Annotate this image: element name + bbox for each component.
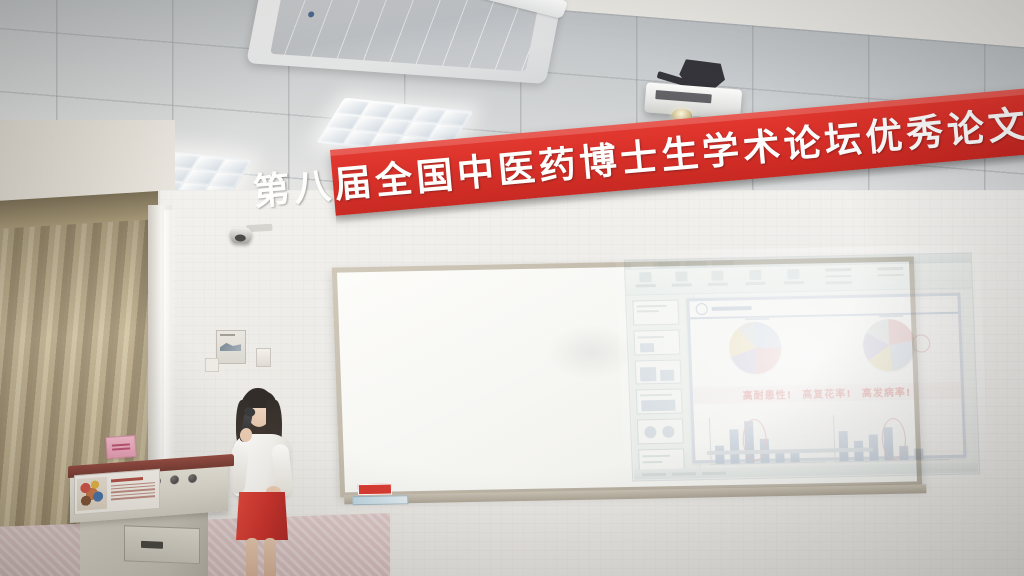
ribbon-tab[interactable]: [712, 260, 734, 266]
presentation-app-window: 高耐患性! 高复花率! 高发病率!: [624, 252, 980, 481]
lectern-drawer[interactable]: [124, 525, 200, 564]
presenter-skirt: [236, 492, 288, 540]
status-text: [672, 472, 696, 476]
red-callout-3: 高发病率!: [862, 384, 912, 400]
pie-chart-right: [862, 319, 922, 378]
slide-thumbnail[interactable]: [632, 300, 679, 326]
ribbon-tab[interactable]: [631, 262, 653, 268]
slide-title-text: [712, 306, 752, 311]
slide-thumbnail[interactable]: [636, 389, 683, 415]
pie-annotation-ellipse: [912, 334, 931, 352]
presenter-left-leg: [246, 538, 258, 576]
presenter-right-leg: [264, 538, 276, 576]
wall-small-tag: [205, 358, 219, 372]
lectern-knob[interactable]: [188, 474, 197, 484]
slide-bullet-icon: [695, 303, 707, 315]
pie-chart-left: [728, 321, 788, 380]
slide-thumbnail[interactable]: [633, 329, 680, 355]
pie-chart-right-graphic: [862, 319, 916, 372]
lectern-knob[interactable]: [170, 475, 179, 485]
red-callout-2: 高复花率!: [802, 385, 852, 401]
red-callout-1: 高耐患性!: [742, 386, 792, 402]
whiteboard-blue-label: [352, 495, 408, 505]
slide-red-callouts: 高耐患性! 高复花率! 高发病率!: [693, 382, 962, 405]
lectern: [66, 456, 236, 576]
bar-chart-left: [708, 416, 825, 465]
slide-thumbnail[interactable]: [637, 419, 684, 445]
lectern-poster: [74, 469, 160, 515]
status-text: [642, 472, 666, 476]
active-slide-canvas[interactable]: 高耐患性! 高复花率! 高发病率!: [686, 293, 966, 464]
slide-thumbnail[interactable]: [635, 359, 682, 385]
lectern-slot: [141, 541, 163, 549]
poster-text-lines: [111, 476, 155, 502]
ribbon-tab[interactable]: [658, 261, 680, 267]
pie-chart-row: [690, 314, 961, 386]
bar-chart-right: [832, 413, 949, 462]
poster-artwork: [77, 477, 107, 511]
pie-chart-left-graphic: [728, 321, 782, 374]
projected-slide: 高耐患性! 高复花率! 高发病率!: [624, 252, 980, 481]
conference-room-photo: 高耐患性! 高复花率! 高发病率!: [0, 0, 1024, 576]
ribbon-tab[interactable]: [685, 260, 707, 266]
zoom-control[interactable]: [702, 471, 726, 475]
whiteboard-red-label: [358, 484, 392, 496]
framed-wall-picture: [216, 330, 246, 364]
whiteboard-smudge: [545, 324, 637, 381]
security-camera-icon: [227, 221, 272, 249]
wall-switch-plate[interactable]: [256, 348, 271, 367]
